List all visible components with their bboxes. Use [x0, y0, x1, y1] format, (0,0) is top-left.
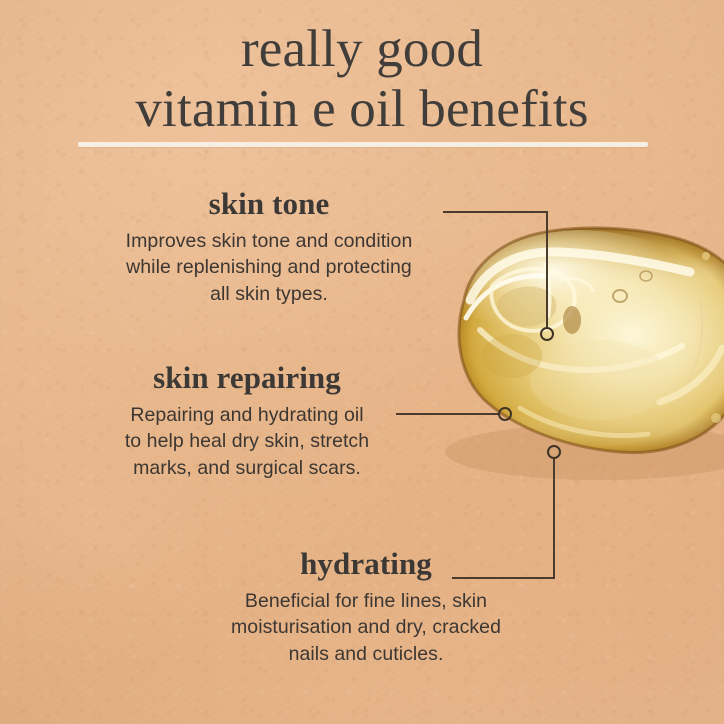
section-skin-repairing-heading: skin repairing	[82, 362, 412, 395]
infographic-canvas: really good vitamin e oil benefits skin …	[0, 0, 724, 724]
page-title-line-1: really good	[0, 22, 724, 76]
page-title-line-2: vitamin e oil benefits	[0, 82, 724, 136]
body-line: nails and cuticles.	[186, 641, 546, 668]
body-line: Improves skin tone and condition	[88, 228, 450, 255]
section-skin-tone-body: Improves skin tone and condition while r…	[88, 228, 450, 309]
section-skin-repairing: skin repairing Repairing and hydrating o…	[82, 362, 412, 482]
section-hydrating: hydrating Beneficial for fine lines, ski…	[186, 548, 546, 668]
body-line: Repairing and hydrating oil	[82, 402, 412, 429]
body-line: moisturisation and dry, cracked	[186, 614, 546, 641]
title-underline-rule	[78, 142, 648, 147]
section-skin-tone: skin tone Improves skin tone and conditi…	[88, 188, 450, 308]
body-line: Beneficial for fine lines, skin	[186, 588, 546, 615]
body-line: all skin types.	[88, 281, 450, 308]
section-skin-repairing-body: Repairing and hydrating oil to help heal…	[82, 402, 412, 483]
page-title: really good vitamin e oil benefits	[0, 22, 724, 136]
section-hydrating-body: Beneficial for fine lines, skin moisturi…	[186, 588, 546, 669]
body-line: to help heal dry skin, stretch	[82, 428, 412, 455]
body-line: marks, and surgical scars.	[82, 455, 412, 482]
section-hydrating-heading: hydrating	[186, 548, 546, 581]
section-skin-tone-heading: skin tone	[88, 188, 450, 221]
body-line: while replenishing and protecting	[88, 254, 450, 281]
